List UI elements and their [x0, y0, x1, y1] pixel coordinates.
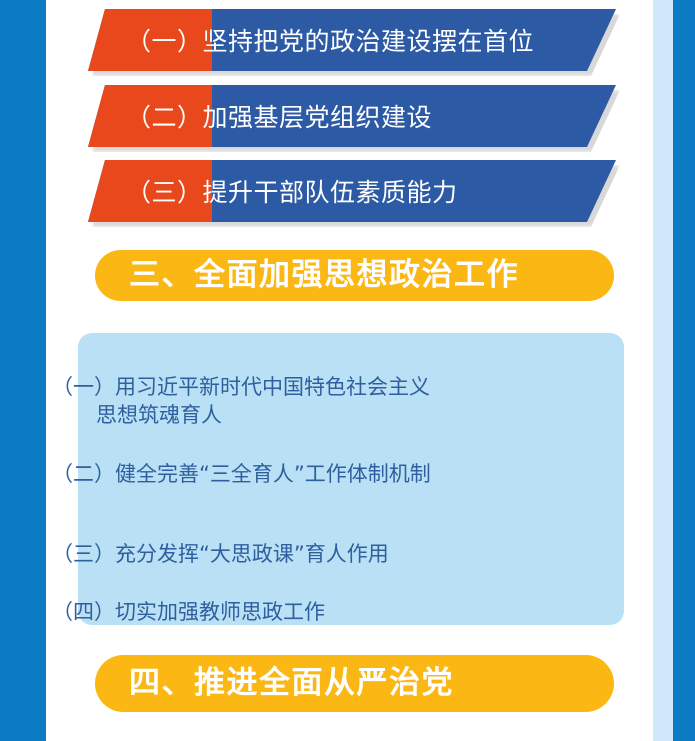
section-three-item-3[interactable]: （三）充分发挥“大思政课”育人作用	[52, 512, 389, 568]
section-three-item-2-text: 健全完善“三全育人”工作体制机制	[115, 462, 431, 486]
chevron-banner-3[interactable]: （三） 提升干部队伍素质能力	[88, 160, 616, 222]
chevron-banner-3-number: （三）	[126, 173, 203, 209]
left-blue-rail	[0, 0, 46, 741]
right-blue-rail	[673, 0, 695, 741]
section-three-item-4-number: （四）	[52, 600, 115, 624]
right-light-blue-rail	[653, 0, 673, 741]
section-three-heading-pill[interactable]: 三、全面加强思想政治工作	[95, 250, 614, 301]
chevron-banner-1-title: 坚持把党的政治建设摆在首位	[203, 22, 535, 58]
section-three-item-1-number: （一）	[52, 375, 115, 399]
section-four-heading-text: 四、推进全面从严治党	[129, 668, 454, 699]
section-three-item-4-text: 切实加强教师思政工作	[115, 600, 325, 624]
chevron-banner-1-text: （一） 坚持把党的政治建设摆在首位	[88, 9, 616, 71]
section-four-heading-pill[interactable]: 四、推进全面从严治党	[95, 655, 614, 712]
chevron-banner-2-text: （二） 加强基层党组织建设	[88, 85, 616, 147]
section-three-item-4[interactable]: （四）切实加强教师思政工作	[52, 570, 325, 626]
section-three-item-1-text-line2: 思想筑魂育人	[52, 401, 522, 429]
section-three-item-2-number: （二）	[52, 462, 115, 486]
section-three-heading-text: 三、全面加强思想政治工作	[129, 260, 519, 291]
chevron-banner-2-title: 加强基层党组织建设	[203, 98, 433, 134]
chevron-banner-3-title: 提升干部队伍素质能力	[203, 173, 458, 209]
chevron-banner-2-number: （二）	[126, 98, 203, 134]
section-three-item-3-text: 充分发挥“大思政课”育人作用	[115, 542, 389, 566]
chevron-banner-1[interactable]: （一） 坚持把党的政治建设摆在首位	[88, 9, 616, 71]
chevron-banner-3-text: （三） 提升干部队伍素质能力	[88, 160, 616, 222]
section-three-item-1-text: 用习近平新时代中国特色社会主义	[115, 375, 430, 399]
section-three-item-3-number: （三）	[52, 542, 115, 566]
chevron-banner-1-number: （一）	[126, 22, 203, 58]
section-three-item-2[interactable]: （二）健全完善“三全育人”工作体制机制	[52, 432, 431, 488]
infographic-page: （一） 坚持把党的政治建设摆在首位 （二） 加强基层党组织建设 （三） 提升干部…	[0, 0, 695, 741]
chevron-banner-2[interactable]: （二） 加强基层党组织建设	[88, 85, 616, 147]
